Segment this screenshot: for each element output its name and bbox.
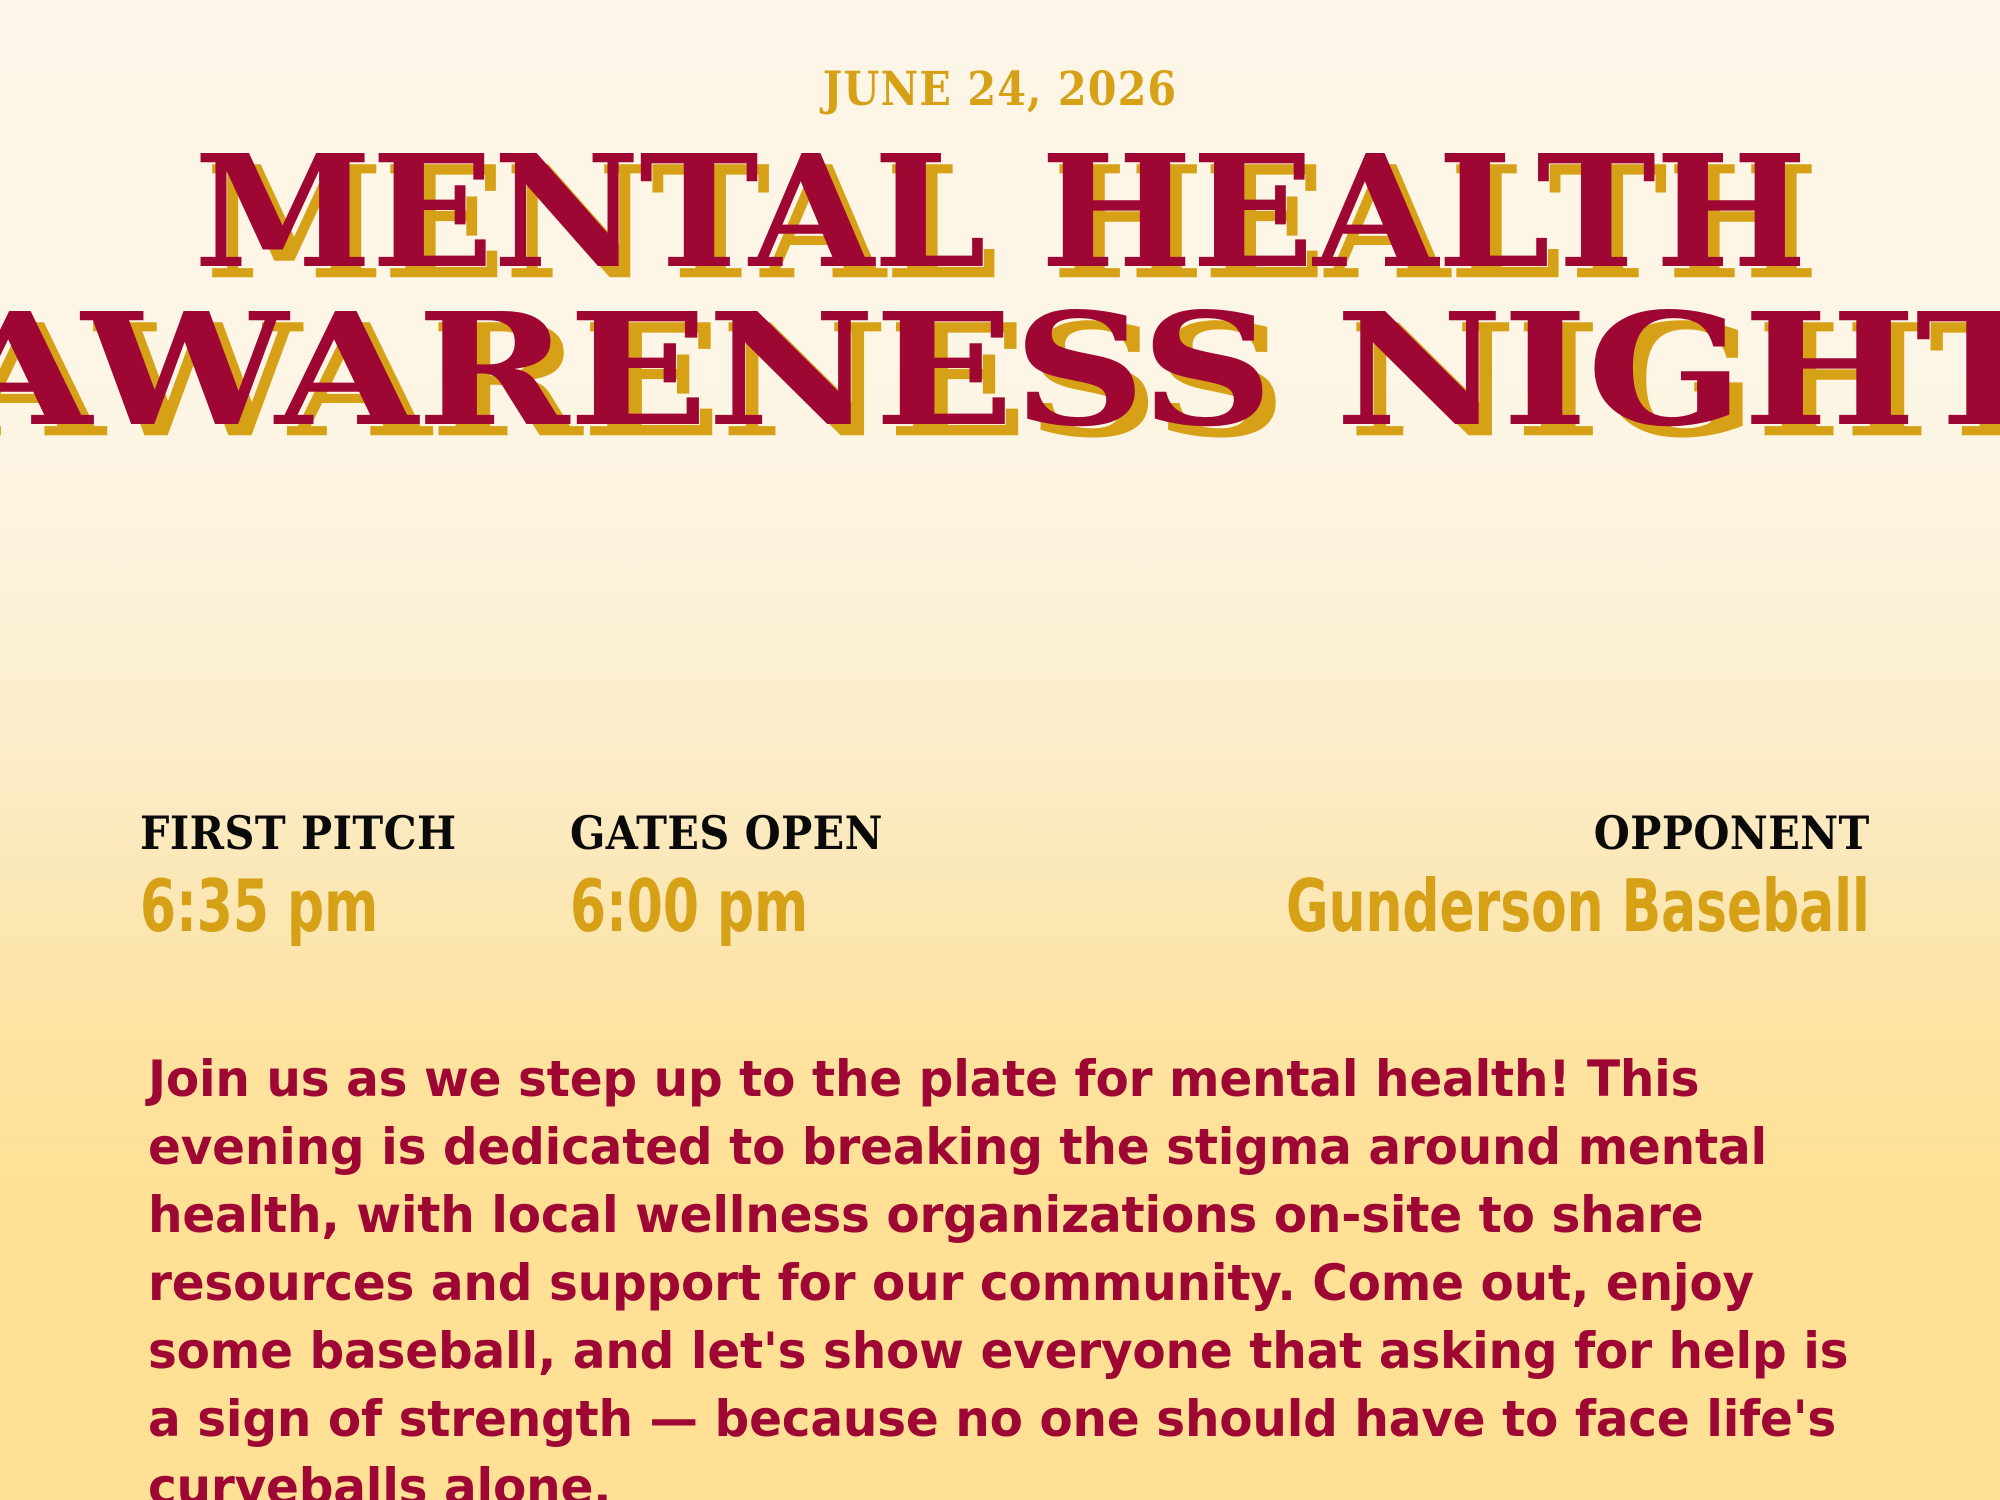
title-line-two: AWARENESS NIGHT (0, 297, 2000, 444)
page-title: MENTAL HEALTH AWARENESS NIGHT (0, 140, 2000, 443)
title-line-one: MENTAL HEALTH (0, 139, 2000, 286)
event-poster: JUNE 24, 2026 MENTAL HEALTH AWARENESS NI… (0, 0, 2000, 1500)
stat-opponent: OPPONENT Gunderson Baseball (1059, 810, 1870, 942)
event-details-row: FIRST PITCH 6:35 pm GATES OPEN 6:00 pm O… (140, 810, 1870, 970)
stat-opponent-value: Gunderson Baseball (1286, 870, 1870, 942)
stat-first-pitch-value: 6:35 pm (140, 870, 393, 942)
stat-gates-open-value: 6:00 pm (570, 870, 820, 942)
event-date: JUNE 24, 2026 (120, 66, 1880, 113)
event-description-text: Join us as we step up to the plate for m… (148, 1045, 1855, 1500)
stat-opponent-label: OPPONENT (1140, 810, 1870, 856)
stat-gates-open: GATES OPEN 6:00 pm (570, 810, 918, 942)
stat-gates-open-label: GATES OPEN (570, 810, 883, 856)
stat-first-pitch: FIRST PITCH 6:35 pm (140, 810, 492, 942)
stat-first-pitch-label: FIRST PITCH (140, 810, 457, 856)
event-description: Join us as we step up to the plate for m… (148, 1045, 1908, 1500)
